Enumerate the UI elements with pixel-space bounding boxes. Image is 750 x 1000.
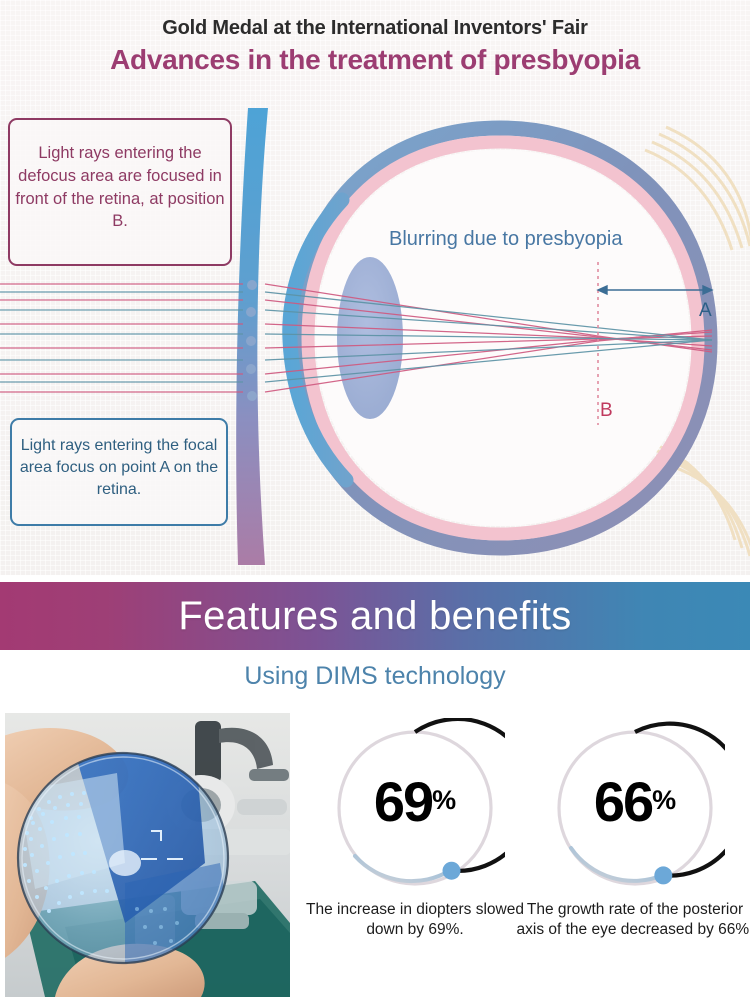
- donut-number: 69: [374, 770, 432, 833]
- dims-subtitle: Using DIMS technology: [0, 662, 750, 691]
- percent-sign: %: [652, 785, 676, 815]
- donut-value-diopters: 69%: [325, 774, 505, 830]
- incoming-rays-teal: [0, 292, 243, 382]
- callout-defocus-area: Light rays entering the defocus area are…: [8, 118, 232, 266]
- donut-chart-diopters: 69%: [325, 718, 505, 898]
- point-b-label: B: [600, 400, 613, 422]
- callout-defocus-text: Light rays entering the defocus area are…: [15, 144, 224, 230]
- crystalline-lens: [337, 257, 403, 419]
- percent-sign: %: [432, 785, 456, 815]
- dims-lens-photo: [5, 713, 290, 997]
- caption-axial-growth: The growth rate of the posterior axis of…: [515, 900, 750, 941]
- caption-diopters: The increase in diopters slowed down by …: [295, 900, 535, 941]
- award-line: Gold Medal at the International Inventor…: [0, 17, 750, 39]
- callout-focal-text: Light rays entering the focal area focus…: [20, 437, 218, 498]
- donut-chart-axial-growth: 66%: [545, 718, 725, 898]
- eye-diagram-panel: Gold Medal at the International Inventor…: [0, 0, 750, 575]
- incoming-rays-pink: [0, 284, 243, 392]
- donut-number: 66: [594, 770, 652, 833]
- features-banner: Features and benefits: [0, 582, 750, 650]
- page-title: Advances in the treatment of presbyopia: [0, 45, 750, 76]
- callout-focal-area: Light rays entering the focal area focus…: [10, 418, 228, 526]
- benefits-row: 69% 66% The increase in diopt: [0, 710, 750, 1000]
- header-block: Gold Medal at the International Inventor…: [0, 0, 750, 76]
- features-banner-title: Features and benefits: [178, 596, 571, 636]
- donut-value-axial-growth: 66%: [545, 774, 725, 830]
- point-a-label: A: [699, 300, 712, 322]
- blurring-label: Blurring due to presbyopia: [389, 228, 622, 251]
- infographic-page: Gold Medal at the International Inventor…: [0, 0, 750, 1000]
